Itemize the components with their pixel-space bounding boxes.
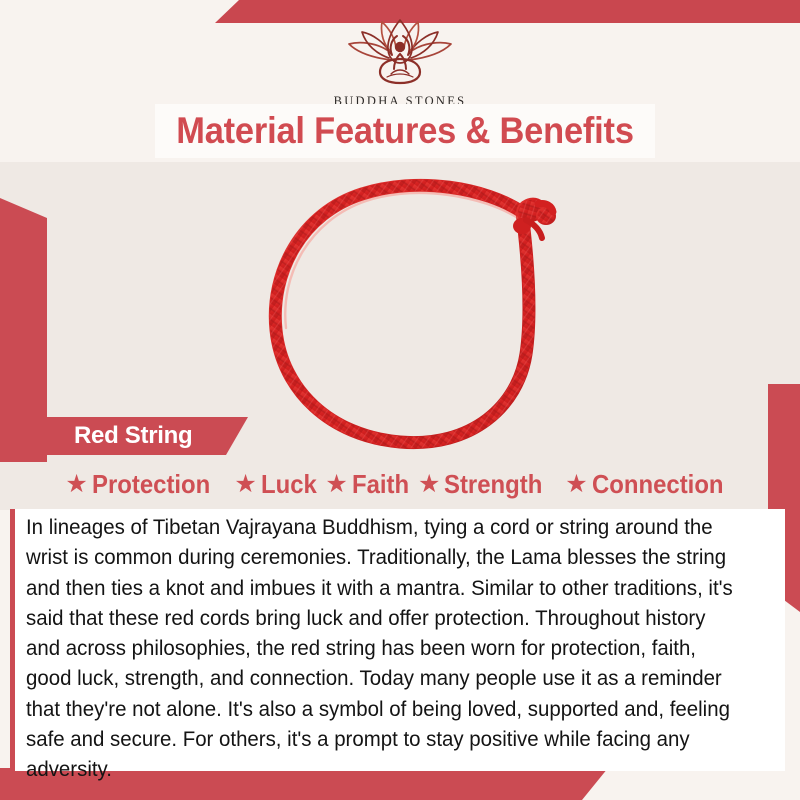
benefit-item-luck: ★ Luck [234, 469, 321, 500]
benefits-row: ★ Protection ★ Luck ★ Faith ★ Strength ★… [0, 466, 800, 502]
star-icon: ★ [565, 472, 587, 497]
benefit-label: Faith [352, 469, 409, 500]
star-icon: ★ [325, 472, 347, 497]
benefit-label: Luck [261, 469, 317, 500]
star-icon: ★ [418, 472, 440, 497]
benefit-item-connection: ★ Connection [565, 469, 734, 500]
benefit-item-protection: ★ Protection [65, 469, 220, 500]
benefit-item-strength: ★ Strength [418, 469, 551, 500]
title-banner: Material Features & Benefits [155, 104, 655, 158]
benefit-label: Connection [592, 469, 724, 500]
product-label: Red String [74, 422, 192, 450]
product-image-red-string-bracelet [250, 168, 580, 453]
star-icon: ★ [234, 472, 256, 497]
lotus-meditation-logo-icon [335, 12, 465, 92]
benefit-label: Protection [92, 469, 210, 500]
benefit-item-faith: ★ Faith [325, 469, 414, 500]
page-title: Material Features & Benefits [176, 110, 634, 152]
benefit-label: Strength [444, 469, 542, 500]
infographic-page: BUDDHA STONES Material Features & Benefi… [0, 0, 800, 800]
description-panel-accent-edge [10, 509, 15, 771]
description-text: In lineages of Tibetan Vajrayana Buddhis… [26, 512, 740, 785]
star-icon: ★ [65, 472, 87, 497]
product-label-ribbon: Red String [18, 417, 248, 455]
brand-logo: BUDDHA STONES [0, 12, 800, 109]
